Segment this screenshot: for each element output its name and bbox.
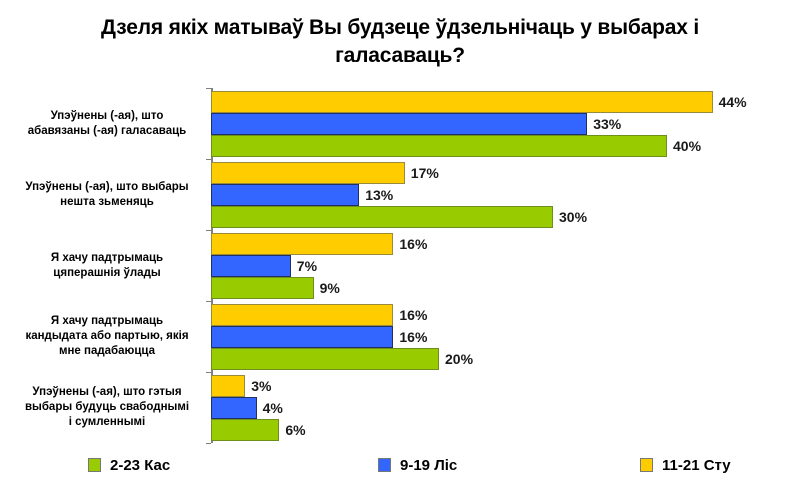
bar-group: 3%4%6% [211, 372, 771, 443]
bar-2-23-кас[interactable] [211, 277, 314, 299]
bar-9-19-ліс[interactable] [211, 326, 393, 348]
bar-group: 16%7%9% [211, 230, 771, 301]
bar-group: 17%13%30% [211, 159, 771, 230]
legend-swatch-icon [378, 458, 391, 472]
bar-11-21-сту[interactable] [211, 233, 393, 255]
legend-swatch-icon [88, 458, 101, 472]
bar-value-label: 7% [297, 255, 317, 277]
category-label-line: мне падабаюцца [9, 344, 205, 359]
legend-label: 11-21 Сту [662, 457, 731, 474]
legend-item[interactable]: 11-21 Сту [640, 452, 731, 478]
bar-value-label: 13% [365, 184, 393, 206]
legend-swatch-icon [640, 458, 653, 472]
chart-title: Дзеля якіх матываў Вы будзеце ўдзельніча… [60, 14, 740, 70]
bar-value-label: 16% [399, 233, 427, 255]
bar-value-label: 6% [285, 419, 305, 441]
category-label-line: Упэўнены (-ая), што гэтыя [9, 385, 205, 400]
chart-container: Дзеля якіх матываў Вы будзеце ўдзельніча… [0, 0, 800, 488]
bar-value-label: 44% [719, 91, 747, 113]
bar-value-label: 4% [263, 397, 283, 419]
category-label: Упэўнены (-ая), штоабавязаны (-ая) галас… [9, 109, 205, 139]
bar-2-23-кас[interactable] [211, 419, 279, 441]
bar-value-label: 17% [411, 162, 439, 184]
category-label-line: нешта зьменяць [9, 195, 205, 210]
chart-legend: 2-23 Кас9-19 Ліс11-21 Сту [0, 452, 800, 484]
bar-2-23-кас[interactable] [211, 206, 553, 228]
bar-11-21-сту[interactable] [211, 162, 405, 184]
category-axis-labels: Упэўнены (-ая), штоабавязаны (-ая) галас… [0, 88, 205, 443]
bar-11-21-сту[interactable] [211, 304, 393, 326]
bar-2-23-кас[interactable] [211, 348, 439, 370]
category-label-line: Упэўнены (-ая), што [9, 109, 205, 124]
category-label-line: Я хачу падтрымаць [9, 314, 205, 329]
bar-group: 44%33%40% [211, 88, 771, 159]
category-label-line: цяперашнія ўлады [9, 266, 205, 281]
legend-item[interactable]: 2-23 Кас [88, 452, 170, 478]
bar-11-21-сту[interactable] [211, 91, 713, 113]
bar-value-label: 9% [320, 277, 340, 299]
category-label: Упэўнены (-ая), што гэтыявыбары будуць с… [9, 385, 205, 430]
bar-value-label: 40% [673, 135, 701, 157]
legend-label: 2-23 Кас [110, 457, 170, 474]
category-label: Я хачу падтрымацькандыдата або партыю, я… [9, 314, 205, 359]
category-label: Я хачу падтрымацьцяперашнія ўлады [9, 251, 205, 281]
bar-9-19-ліс[interactable] [211, 255, 291, 277]
bar-11-21-сту[interactable] [211, 375, 245, 397]
bar-value-label: 3% [251, 375, 271, 397]
bar-2-23-кас[interactable] [211, 135, 667, 157]
bar-value-label: 16% [399, 326, 427, 348]
bar-9-19-ліс[interactable] [211, 113, 587, 135]
bar-value-label: 33% [593, 113, 621, 135]
category-label-line: абавязаны (-ая) галасаваць [9, 124, 205, 139]
bar-value-label: 16% [399, 304, 427, 326]
bar-value-label: 30% [559, 206, 587, 228]
category-label: Упэўнены (-ая), што выбарынешта зьменяць [9, 180, 205, 210]
bar-group: 16%16%20% [211, 301, 771, 372]
category-label-line: кандыдата або партыю, якія [9, 329, 205, 344]
bar-9-19-ліс[interactable] [211, 397, 257, 419]
bar-9-19-ліс[interactable] [211, 184, 359, 206]
bar-value-label: 20% [445, 348, 473, 370]
category-label-line: і сумленнымі [9, 415, 205, 430]
category-label-line: выбары будуць свабоднымі [9, 400, 205, 415]
category-label-line: Упэўнены (-ая), што выбары [9, 180, 205, 195]
legend-label: 9-19 Ліс [400, 457, 457, 474]
plot-area: 44%33%40%17%13%30%16%7%9%16%16%20%3%4%6% [211, 88, 771, 443]
axis-tick [206, 443, 211, 444]
category-label-line: Я хачу падтрымаць [9, 251, 205, 266]
legend-item[interactable]: 9-19 Ліс [378, 452, 457, 478]
